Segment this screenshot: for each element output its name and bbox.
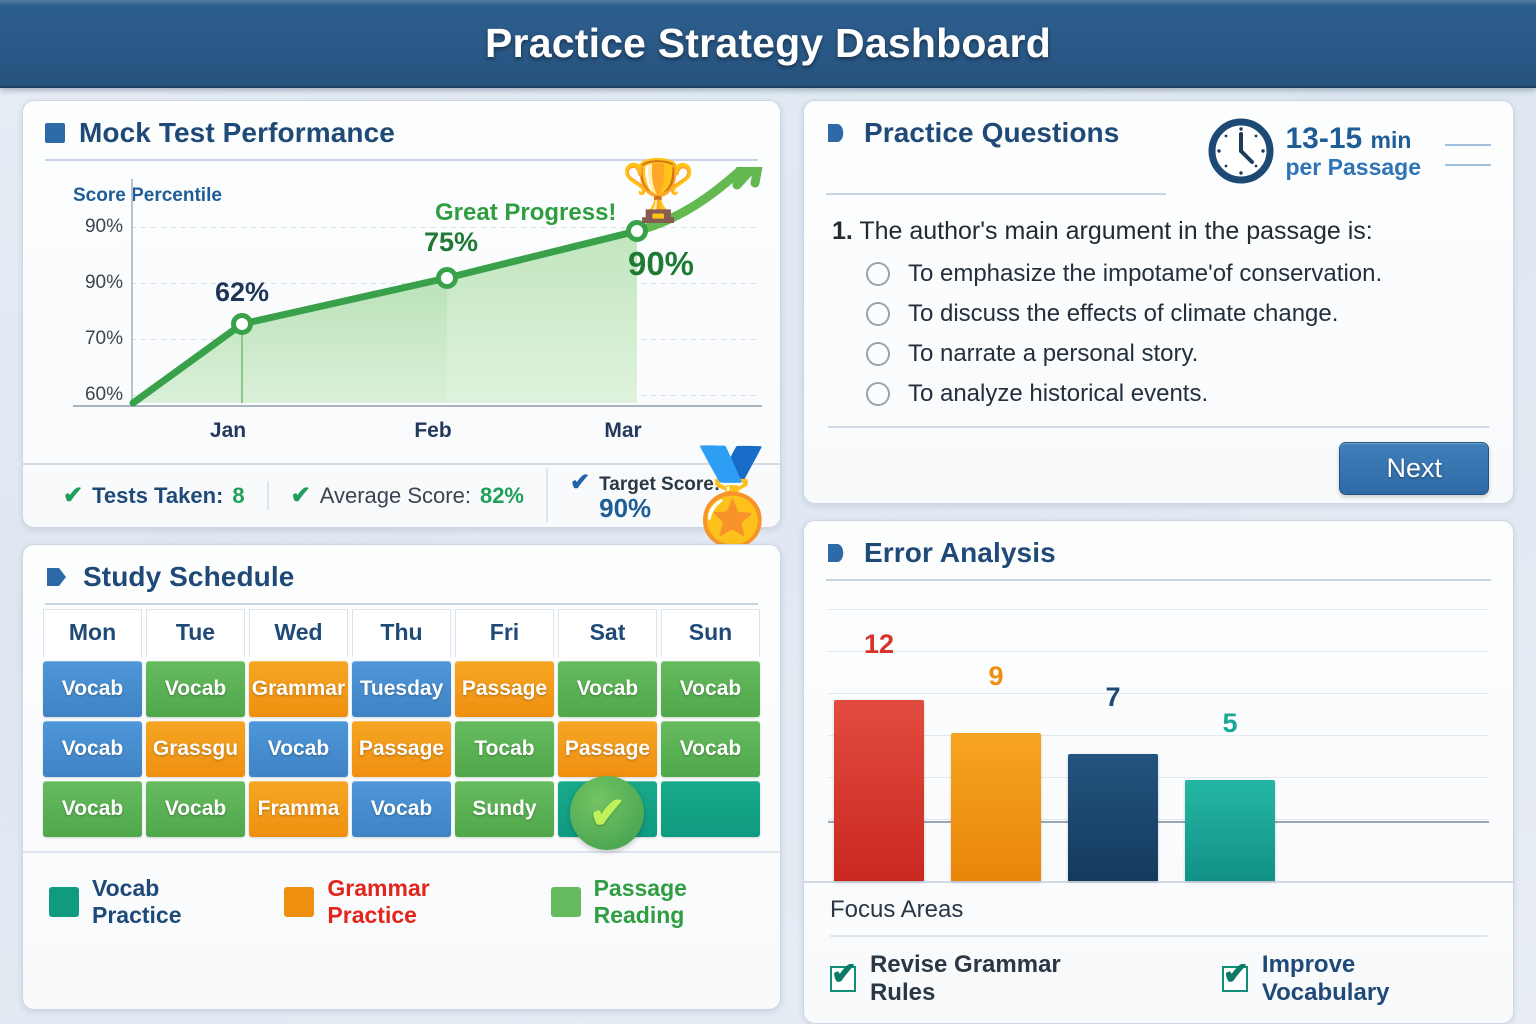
check-icon: ✔ — [63, 481, 83, 510]
schedule-header-row: Mon Tue Wed Thu Fri Sat Sun — [43, 609, 760, 657]
error-analysis-header: Error Analysis — [804, 521, 1513, 579]
schedule-cell[interactable]: Sundy — [455, 781, 554, 837]
answer-options: To emphasize the impotame'of conservatio… — [832, 260, 1487, 408]
flag-icon — [826, 122, 850, 144]
bar-value-grammar: 9 — [951, 661, 1041, 692]
day-header-wed: Wed — [249, 609, 348, 657]
stat-average-score: ✔ Average Score: 82% — [267, 481, 546, 510]
data-label-feb: 75% — [424, 227, 478, 258]
schedule-cell[interactable]: Grammar — [249, 661, 348, 717]
x-tick-feb: Feb — [414, 419, 451, 443]
question-prompt: The author's main argument in the passag… — [859, 217, 1372, 245]
day-header-thu: Thu — [352, 609, 451, 657]
question-block: 1. The author's main argument in the pas… — [804, 195, 1513, 408]
timer-range: 13-15 — [1285, 122, 1362, 155]
schedule-cell[interactable]: Passage — [455, 661, 554, 717]
radio-button[interactable] — [866, 262, 890, 286]
question-footer: Next — [828, 426, 1489, 513]
award-medal-icon: 🏅 — [675, 451, 790, 543]
radio-button[interactable] — [866, 342, 890, 366]
schedule-cell[interactable]: Tuesday — [352, 661, 451, 717]
schedule-cell[interactable]: Vocab — [352, 781, 451, 837]
bar-value-inference: 5 — [1185, 708, 1275, 739]
x-tick-jan: Jan — [210, 419, 246, 443]
trophy-icon: 🏆 — [621, 161, 696, 221]
schedule-legend: Vocab Practice Grammar Practice Passage … — [23, 851, 780, 949]
study-schedule-header: Study Schedule — [23, 545, 780, 603]
option-row[interactable]: To analyze historical events. — [832, 380, 1487, 408]
day-header-sun: Sun — [661, 609, 760, 657]
chart-baseline — [828, 821, 1489, 823]
blue-square-icon — [45, 123, 65, 143]
timer-per-passage: per Passage — [1285, 155, 1421, 179]
checkbox-checked-icon[interactable] — [1222, 966, 1248, 992]
mock-test-performance-panel: Mock Test Performance Score Percentile 9… — [22, 100, 781, 528]
option-label: To narrate a personal story. — [908, 340, 1198, 368]
schedule-cell[interactable] — [661, 781, 760, 837]
schedule-cell[interactable]: Vocab — [146, 781, 245, 837]
mock-test-stats: ✔ Tests Taken: 8 ✔ Average Score: 82% ✔ … — [23, 463, 780, 525]
practice-questions-title: Practice Questions — [864, 117, 1119, 149]
focus-areas-title: Focus Areas — [830, 896, 1487, 924]
radio-button[interactable] — [866, 382, 890, 406]
practice-questions-header: Practice Questions 13-15 — [804, 101, 1513, 185]
data-label-jan: 62% — [215, 277, 269, 308]
bar-inference-errors — [1185, 780, 1275, 881]
schedule-row: Vocab Vocab Framma Vocab Sundy ✔ — [43, 777, 760, 837]
chart-gridlines — [828, 609, 1489, 821]
schedule-row: Vocab Vocab Grammar Tuesday Passage Voca… — [43, 657, 760, 717]
bar-reading-errors — [834, 700, 924, 881]
timer-decoration-lines — [1431, 136, 1491, 166]
stat-value: 8 — [232, 483, 244, 509]
left-column: Mock Test Performance Score Percentile 9… — [22, 100, 781, 1010]
schedule-cell[interactable]: Passage — [352, 721, 451, 777]
legend-label: Passage Reading — [594, 875, 756, 929]
legend-swatch — [284, 887, 314, 917]
app-header: Practice Strategy Dashboard — [0, 0, 1536, 88]
schedule-cell[interactable]: Vocab — [661, 721, 760, 777]
data-point-jan — [231, 313, 253, 335]
schedule-cell[interactable]: Passage — [558, 721, 657, 777]
focus-item-vocabulary[interactable]: Improve Vocabulary — [1222, 951, 1487, 1007]
score-line-chart: Score Percentile 90% 90% 70% 60% — [23, 161, 780, 463]
bar-value-vocabulary: 7 — [1068, 682, 1158, 713]
next-button[interactable]: Next — [1339, 442, 1489, 495]
option-label: To analyze historical events. — [908, 380, 1208, 408]
option-label: To emphasize the impotame'of conservatio… — [908, 260, 1382, 288]
schedule-row: Vocab Grassgu Vocab Passage Tocab Passag… — [43, 717, 760, 777]
bar-value-reading: 12 — [834, 629, 924, 660]
day-header-sat: Sat — [558, 609, 657, 657]
error-analysis-panel: Error Analysis 12 Reading Errors 9 Gra — [803, 520, 1514, 1024]
legend-item-vocab: Vocab Practice — [49, 875, 230, 929]
focus-areas-section: Focus Areas Revise Grammar Rules Improve… — [804, 881, 1513, 1023]
focus-item-grammar[interactable]: Revise Grammar Rules — [830, 951, 1130, 1007]
day-header-mon: Mon — [43, 609, 142, 657]
schedule-cell[interactable]: Vocab — [146, 661, 245, 717]
study-schedule-title: Study Schedule — [83, 561, 294, 593]
stat-tests-taken: ✔ Tests Taken: 8 — [41, 481, 267, 510]
question-number: 1. — [832, 217, 853, 245]
legend-label: Vocab Practice — [92, 875, 230, 929]
timer-unit: min — [1371, 127, 1412, 153]
flag-icon — [826, 542, 850, 564]
legend-item-passage: Passage Reading — [551, 875, 756, 929]
data-point-feb — [436, 267, 458, 289]
option-row[interactable]: To emphasize the impotame'of conservatio… — [832, 260, 1487, 288]
check-icon: ✔ — [570, 776, 644, 850]
check-icon: ✔ — [570, 468, 590, 497]
schedule-cell[interactable]: Vocab — [558, 661, 657, 717]
mock-test-title: Mock Test Performance — [79, 117, 395, 149]
schedule-cell[interactable]: Framma — [249, 781, 348, 837]
checkbox-checked-icon[interactable] — [830, 966, 856, 992]
clock-icon — [1207, 117, 1275, 185]
flag-icon — [45, 566, 69, 588]
study-schedule-panel: Study Schedule Mon Tue Wed Thu Fri Sat S… — [22, 544, 781, 1010]
legend-label: Grammar Practice — [327, 875, 496, 929]
legend-swatch — [49, 887, 79, 917]
day-header-fri: Fri — [455, 609, 554, 657]
focus-item-label: Revise Grammar Rules — [870, 951, 1130, 1007]
legend-swatch — [551, 887, 581, 917]
bar-vocabulary-errors — [1068, 754, 1158, 881]
schedule-cell[interactable]: Grassgu — [146, 721, 245, 777]
focus-item-label: Improve Vocabulary — [1262, 951, 1487, 1007]
stat-label: Tests Taken: — [92, 483, 223, 509]
schedule-cell[interactable]: Vocab — [43, 721, 142, 777]
day-header-tue: Tue — [146, 609, 245, 657]
radio-button[interactable] — [866, 302, 890, 326]
data-label-mar: 90% — [628, 245, 694, 283]
page-title: Practice Strategy Dashboard — [485, 20, 1051, 67]
x-tick-mar: Mar — [604, 419, 641, 443]
option-row[interactable]: To discuss the effects of climate change… — [832, 300, 1487, 328]
schedule-cell[interactable]: ✔ — [558, 781, 657, 837]
check-icon: ✔ — [291, 481, 311, 510]
practice-questions-panel: Practice Questions 13-15 — [803, 100, 1514, 504]
progress-banner: Great Progress! — [435, 199, 616, 227]
error-bar-chart: 12 Reading Errors 9 Grammar Mistakes 7 V… — [804, 581, 1513, 881]
stat-label: Average Score: — [320, 483, 471, 509]
legend-item-grammar: Grammar Practice — [284, 875, 496, 929]
schedule-cell[interactable]: Tocab — [455, 721, 554, 777]
question-text: 1. The author's main argument in the pas… — [832, 217, 1487, 246]
option-row[interactable]: To narrate a personal story. — [832, 340, 1487, 368]
option-label: To discuss the effects of climate change… — [908, 300, 1338, 328]
timer-badge: 13-15 min per Passage — [1207, 117, 1491, 185]
schedule-cell[interactable]: Vocab — [249, 721, 348, 777]
schedule-cell[interactable]: Vocab — [43, 781, 142, 837]
dashboard-body: Mock Test Performance Score Percentile 9… — [0, 88, 1536, 1024]
error-analysis-title: Error Analysis — [864, 537, 1056, 569]
right-column: Practice Questions 13-15 — [803, 100, 1514, 1010]
schedule-cell[interactable]: Vocab — [661, 661, 760, 717]
bar-grammar-mistakes — [951, 733, 1041, 881]
stat-value: 82% — [480, 483, 524, 509]
mock-test-header: Mock Test Performance — [23, 101, 780, 159]
schedule-cell[interactable]: Vocab — [43, 661, 142, 717]
schedule-grid: Mon Tue Wed Thu Fri Sat Sun Vocab Vocab … — [23, 605, 780, 837]
